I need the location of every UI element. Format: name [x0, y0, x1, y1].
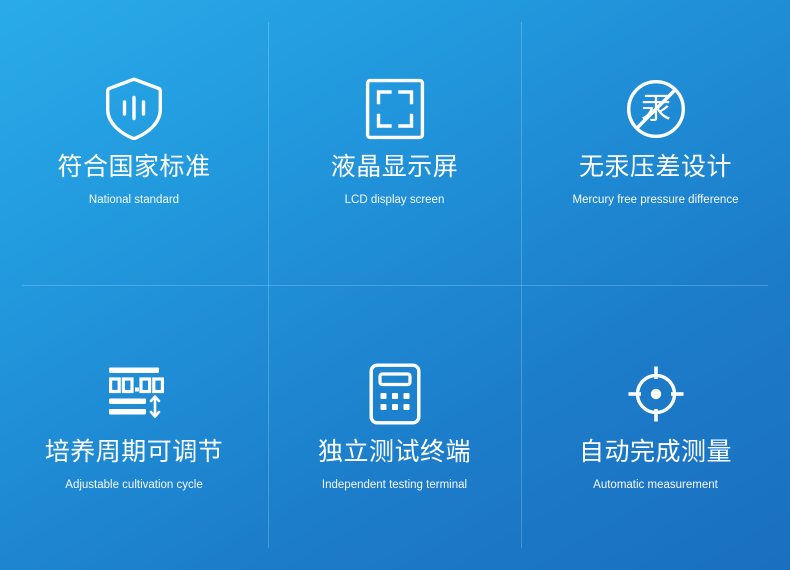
feature-title-en: Automatic measurement	[593, 479, 718, 492]
lcd-screen-icon	[365, 72, 425, 146]
feature-title-en: National standard	[89, 194, 179, 207]
feature-title-cn: 无汞压差设计	[579, 154, 732, 180]
feature-row-top: 符合国家标准 National standard 液晶显示屏 LCD displ…	[0, 0, 790, 285]
feature-cell-lcd-display: 液晶显示屏 LCD display screen	[268, 0, 521, 285]
feature-cell-adjustable-cycle: 培养周期可调节 Adjustable cultivation cycle	[0, 285, 268, 570]
feature-title-cn: 培养周期可调节	[45, 439, 224, 465]
feature-title-cn: 独立测试终端	[318, 439, 471, 465]
feature-title-cn: 符合国家标准	[57, 154, 210, 180]
feature-title-en: Adjustable cultivation cycle	[65, 479, 202, 492]
feature-title-en: LCD display screen	[345, 194, 445, 207]
feature-title-cn: 液晶显示屏	[331, 154, 459, 180]
feature-grid-banner: 符合国家标准 National standard 液晶显示屏 LCD displ…	[0, 0, 790, 570]
feature-cell-testing-terminal: 独立测试终端 Independent testing terminal	[268, 285, 521, 570]
feature-row-bottom: 培养周期可调节 Adjustable cultivation cycle	[0, 285, 790, 570]
feature-title-en: Mercury free pressure difference	[573, 194, 739, 207]
crosshair-target-icon	[626, 357, 686, 431]
feature-cell-mercury-free: 汞 无汞压差设计 Mercury free pressure differenc…	[521, 0, 790, 285]
feature-title-cn: 自动完成测量	[579, 439, 732, 465]
feature-cell-national-standard: 符合国家标准 National standard	[0, 0, 268, 285]
feature-cell-automatic-measurement: 自动完成测量 Automatic measurement	[521, 285, 790, 570]
feature-title-en: Independent testing terminal	[322, 479, 467, 492]
shield-icon	[103, 72, 165, 146]
adjustable-cycle-icon	[104, 357, 164, 431]
calculator-icon	[369, 357, 421, 431]
no-mercury-icon: 汞	[625, 72, 687, 146]
